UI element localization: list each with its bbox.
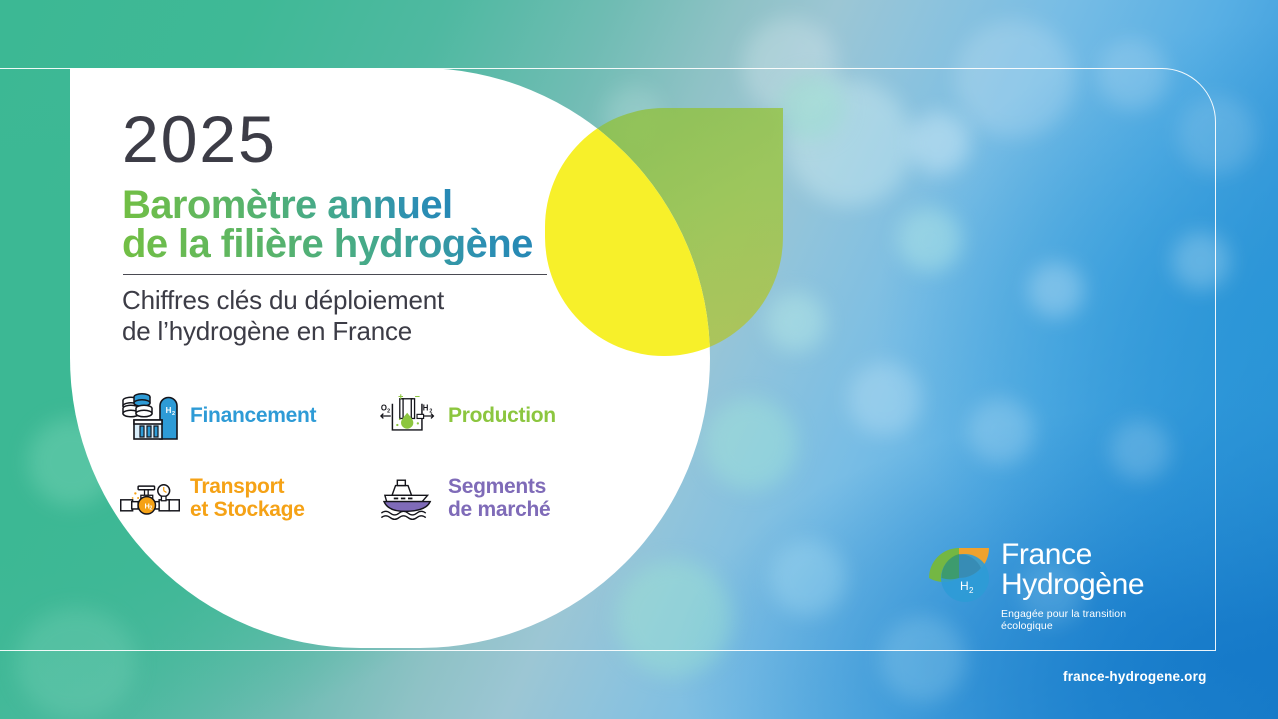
storage-tanks-h2-icon: H 2 (118, 389, 182, 443)
svg-text:2: 2 (429, 408, 432, 414)
svg-text:2: 2 (150, 505, 153, 511)
bokeh-circle (848, 362, 922, 436)
cover-subtitle-line1: Chiffres clés du déploiement (122, 285, 444, 316)
category-item-financement[interactable]: H 2 Financement (118, 386, 376, 446)
category-label-line2: de marché (448, 498, 550, 521)
category-label-line1: Production (448, 404, 556, 427)
category-label-transport-stockage: Transport et Stockage (190, 475, 305, 521)
category-item-segments-de-marche[interactable]: Segments de marché (376, 468, 638, 528)
bokeh-circle (898, 208, 962, 272)
ship-icon (376, 471, 440, 525)
bokeh-circle (908, 112, 970, 174)
bokeh-circle (1178, 96, 1256, 174)
bokeh-circle (1098, 40, 1168, 110)
category-label-line1: Financement (190, 404, 316, 427)
category-label-line1: Transport (190, 475, 305, 498)
bokeh-circle (766, 292, 826, 352)
svg-text:−: − (415, 392, 420, 402)
bokeh-circle (955, 20, 1075, 138)
svg-text:H: H (960, 579, 969, 593)
electrolyser-icon: O 2 H 2 + − (376, 389, 440, 443)
svg-text:H: H (423, 403, 429, 412)
category-label-financement: Financement (190, 404, 316, 427)
svg-text:H: H (166, 406, 172, 415)
logo-tagline: Engagée pour la transition écologique (1001, 608, 1170, 632)
bokeh-circle (1172, 232, 1230, 290)
logo-name-line2: Hydrogène (1001, 570, 1144, 600)
cover-subtitle-line2: de l’hydrogène en France (122, 316, 412, 347)
svg-text:2: 2 (969, 586, 974, 595)
pipeline-valve-h2-icon: H 2 (118, 471, 182, 525)
cover-year: 2025 (122, 106, 277, 172)
category-label-line1: Segments (448, 475, 550, 498)
france-hydrogene-logo[interactable]: H 2 France Hydrogène Engagée pour la tra… (925, 540, 1170, 632)
cover-panel: 2025 Baromètre annuel de la filière hydr… (70, 68, 710, 648)
cover-headline-line1: Baromètre annuel (122, 184, 453, 226)
title-divider (123, 274, 547, 275)
svg-text:O: O (381, 403, 387, 412)
logo-mark-icon: H 2 (925, 544, 993, 608)
bokeh-circle (1028, 262, 1084, 318)
logo-name-line1: France (1001, 540, 1144, 570)
bokeh-circle (770, 540, 846, 616)
category-item-production[interactable]: O 2 H 2 + − (376, 386, 638, 446)
bokeh-circle (968, 398, 1034, 464)
bokeh-circle (1110, 420, 1170, 480)
category-item-transport-stockage[interactable]: H 2 Transport et Stockage (118, 468, 376, 528)
cover-headline-line2: de la filière hydrogène (122, 223, 533, 265)
category-label-line2: et Stockage (190, 498, 305, 521)
bokeh-circle (778, 74, 844, 140)
svg-text:2: 2 (172, 411, 175, 417)
bokeh-circle (705, 398, 797, 490)
category-label-segments-de-marche: Segments de marché (448, 475, 550, 521)
website-url[interactable]: france-hydrogene.org (1063, 669, 1207, 684)
svg-text:+: + (398, 392, 403, 402)
category-label-production: Production (448, 404, 556, 427)
svg-text:2: 2 (387, 408, 390, 414)
category-list: H 2 Financement (118, 386, 678, 528)
